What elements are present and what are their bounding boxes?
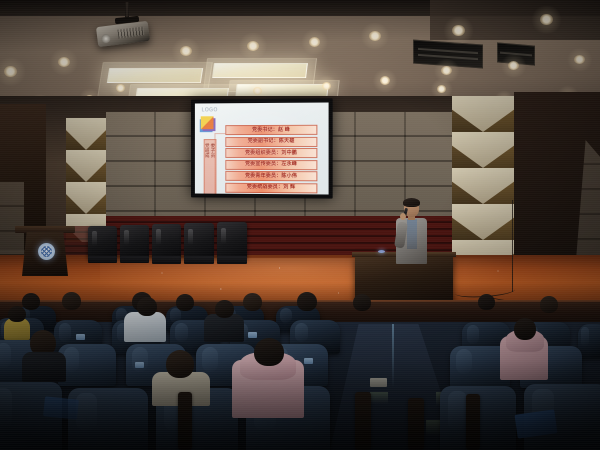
- downlight: [437, 85, 446, 93]
- downlight: [58, 57, 70, 67]
- downlight: [4, 66, 17, 77]
- lectern-emblem-icon: [38, 243, 55, 260]
- projection-screen: LOGO 党 委 班 子 成 员 党委书记：赵 峰 党委副书记：陈天雄 党委组织…: [191, 98, 333, 198]
- audience-head: [353, 294, 371, 311]
- slide-logo-squares-icon: [201, 116, 214, 129]
- stage-chair: [184, 223, 214, 258]
- stage-chair: [88, 226, 117, 258]
- downlight: [508, 61, 519, 70]
- slide-row-list: 党委书记：赵 峰 党委副书记：陈天雄 党委组织委员：刘中鹏 党委宣传委员：左永峰…: [225, 125, 317, 195]
- chevron-panel-right: [452, 96, 514, 276]
- slide-row: 党委统战委员：刘 辉: [225, 183, 317, 194]
- downlight: [452, 25, 465, 36]
- slide-corner-logo: LOGO: [202, 107, 218, 113]
- speaker-shirt: [407, 219, 417, 249]
- slide-row: 党委书记：赵 峰: [225, 125, 317, 135]
- audience-head: [176, 294, 194, 311]
- slide-row: 党委组织委员：刘中鹏: [225, 148, 317, 158]
- wall-tiles-farleft: [0, 182, 24, 254]
- floor-cable-vertical: [512, 200, 514, 292]
- chevron-panel-left: [66, 118, 106, 242]
- lectern-top: [15, 226, 75, 233]
- seat-number-tag: [248, 332, 257, 338]
- downlight: [574, 55, 585, 64]
- seat-armrest: [408, 398, 424, 450]
- stage-chair: [120, 225, 149, 258]
- seat-number-tag: [135, 362, 144, 368]
- slide-row: 党委副书记：陈天雄: [225, 136, 317, 146]
- downlight: [180, 46, 192, 56]
- stage-chair-seat: [184, 256, 214, 264]
- seat-number-tag: [304, 358, 313, 364]
- downlight: [540, 14, 553, 25]
- seat-armrest: [355, 392, 371, 450]
- speaker-hand: [400, 213, 406, 220]
- audience-head: [137, 297, 157, 316]
- downlight: [309, 37, 320, 47]
- step-edge-light: [370, 392, 388, 404]
- stage-chair-seat: [120, 256, 149, 263]
- seat-armrest: [466, 394, 480, 450]
- slide-side-label-text: 党 委 班 子 成 员: [205, 140, 216, 158]
- slide-row: 党委宣传委员：左永峰: [225, 160, 317, 170]
- audience-head: [478, 294, 495, 310]
- downlight: [253, 87, 262, 95]
- audience-head: [22, 293, 40, 310]
- audience-head: [8, 306, 26, 322]
- audience-head: [540, 296, 558, 313]
- audience-head: [243, 293, 262, 311]
- audience-person-body: [124, 312, 166, 342]
- projector-mount-pole: [125, 2, 129, 18]
- audience-head: [215, 300, 234, 318]
- downlight: [369, 31, 381, 41]
- aisle-guide-strip: [392, 324, 394, 388]
- audience-person-body: [22, 352, 66, 382]
- seat: [68, 388, 148, 450]
- auditorium-photo: LOGO 党 委 班 子 成 员 党委书记：赵 峰 党委副书记：陈天雄 党委组织…: [0, 0, 600, 450]
- projector-vent-grill: [117, 26, 144, 38]
- audience-person-body: [204, 314, 244, 342]
- audience-head: [254, 338, 284, 366]
- light-panel-2: [212, 63, 308, 78]
- stage-chair: [217, 222, 247, 258]
- downlight: [247, 41, 259, 51]
- stage-chair: [152, 224, 181, 258]
- stage-chair-seat: [88, 256, 117, 263]
- stage-chair-seat: [152, 256, 181, 264]
- stage-chair-seat: [217, 256, 247, 264]
- audience-head: [514, 318, 536, 340]
- audience-head: [166, 350, 194, 378]
- seat: [58, 344, 116, 386]
- seat-number-tag: [76, 334, 85, 340]
- downlight: [380, 76, 390, 85]
- projector-lens: [101, 34, 111, 44]
- slide-surface: LOGO 党 委 班 子 成 员 党委书记：赵 峰 党委副书记：陈天雄 党委组织…: [195, 102, 329, 194]
- slide-side-label: 党 委 班 子 成 员: [204, 139, 217, 194]
- audience-head: [297, 292, 317, 311]
- downlight: [441, 66, 452, 75]
- desk-device-light: [378, 250, 385, 253]
- audience-head: [62, 292, 81, 310]
- downlight: [116, 84, 125, 92]
- seat-armrest: [178, 392, 192, 450]
- blue-folder: [43, 396, 79, 419]
- floor-paper: [370, 378, 387, 387]
- downlight: [322, 82, 331, 90]
- slide-row: 党委青年委员：陈小伟: [225, 171, 317, 181]
